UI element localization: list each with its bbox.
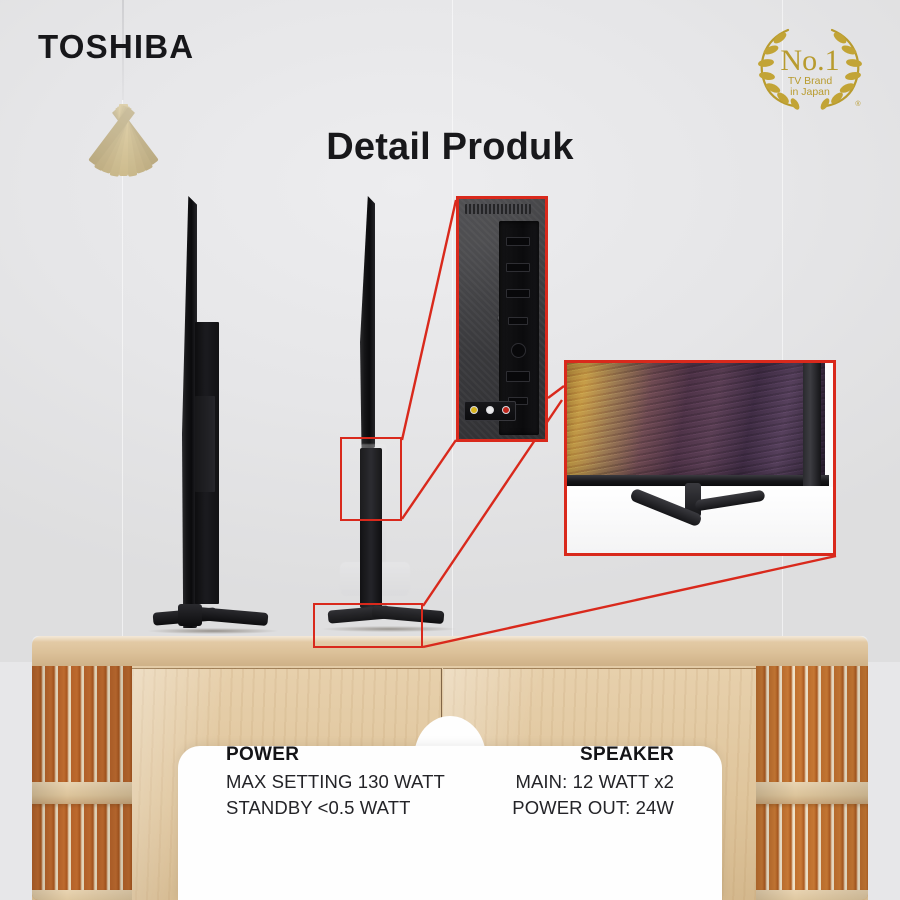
page-title: Detail Produk: [0, 126, 900, 169]
svg-text:in Japan: in Japan: [790, 86, 830, 98]
toshiba-logo: TOSHIBA: [38, 30, 194, 63]
selection-box-stand[interactable]: [313, 603, 423, 648]
cabinet-side-shelf-right: [756, 664, 868, 900]
spec-line-speaker-main: MAIN: 12 WATT x2: [515, 769, 674, 795]
rear-port-panel-callout[interactable]: [456, 196, 548, 442]
spec-card-wrapper: POWER MAX SETTING 130 WATT STANDBY <0.5 …: [178, 716, 722, 900]
screen-corner-stand-callout[interactable]: [564, 360, 836, 556]
spec-column-speaker: SPEAKER MAIN: 12 WATT x2 POWER OUT: 24W: [512, 744, 674, 822]
cabinet-side-shelf-left: [32, 664, 132, 900]
tv-side-profile-left: [160, 196, 270, 642]
vent-grille: [465, 204, 531, 214]
selection-box-ports[interactable]: [340, 437, 402, 521]
spec-heading-speaker: SPEAKER: [580, 744, 674, 766]
tv-right-bezel: [803, 360, 821, 486]
spec-line-power-max: MAX SETTING 130 WATT: [226, 769, 445, 795]
no1-tv-brand-badge: No.1 TV Brand in Japan ®: [744, 14, 876, 114]
tv-screen-image: [564, 360, 825, 479]
spec-line-power-standby: STANDBY <0.5 WATT: [226, 795, 411, 821]
product-detail-graphic: TOSHIBA No: [0, 0, 900, 900]
spec-line-speaker-out: POWER OUT: 24W: [512, 795, 674, 821]
rca-jack-bay: [464, 401, 516, 421]
spec-heading-power: POWER: [226, 744, 299, 766]
svg-text:No.1: No.1: [780, 44, 839, 77]
tv-side-profile-right: [330, 196, 450, 642]
svg-text:®: ®: [855, 100, 861, 108]
spec-column-power: POWER MAX SETTING 130 WATT STANDBY <0.5 …: [226, 744, 445, 822]
